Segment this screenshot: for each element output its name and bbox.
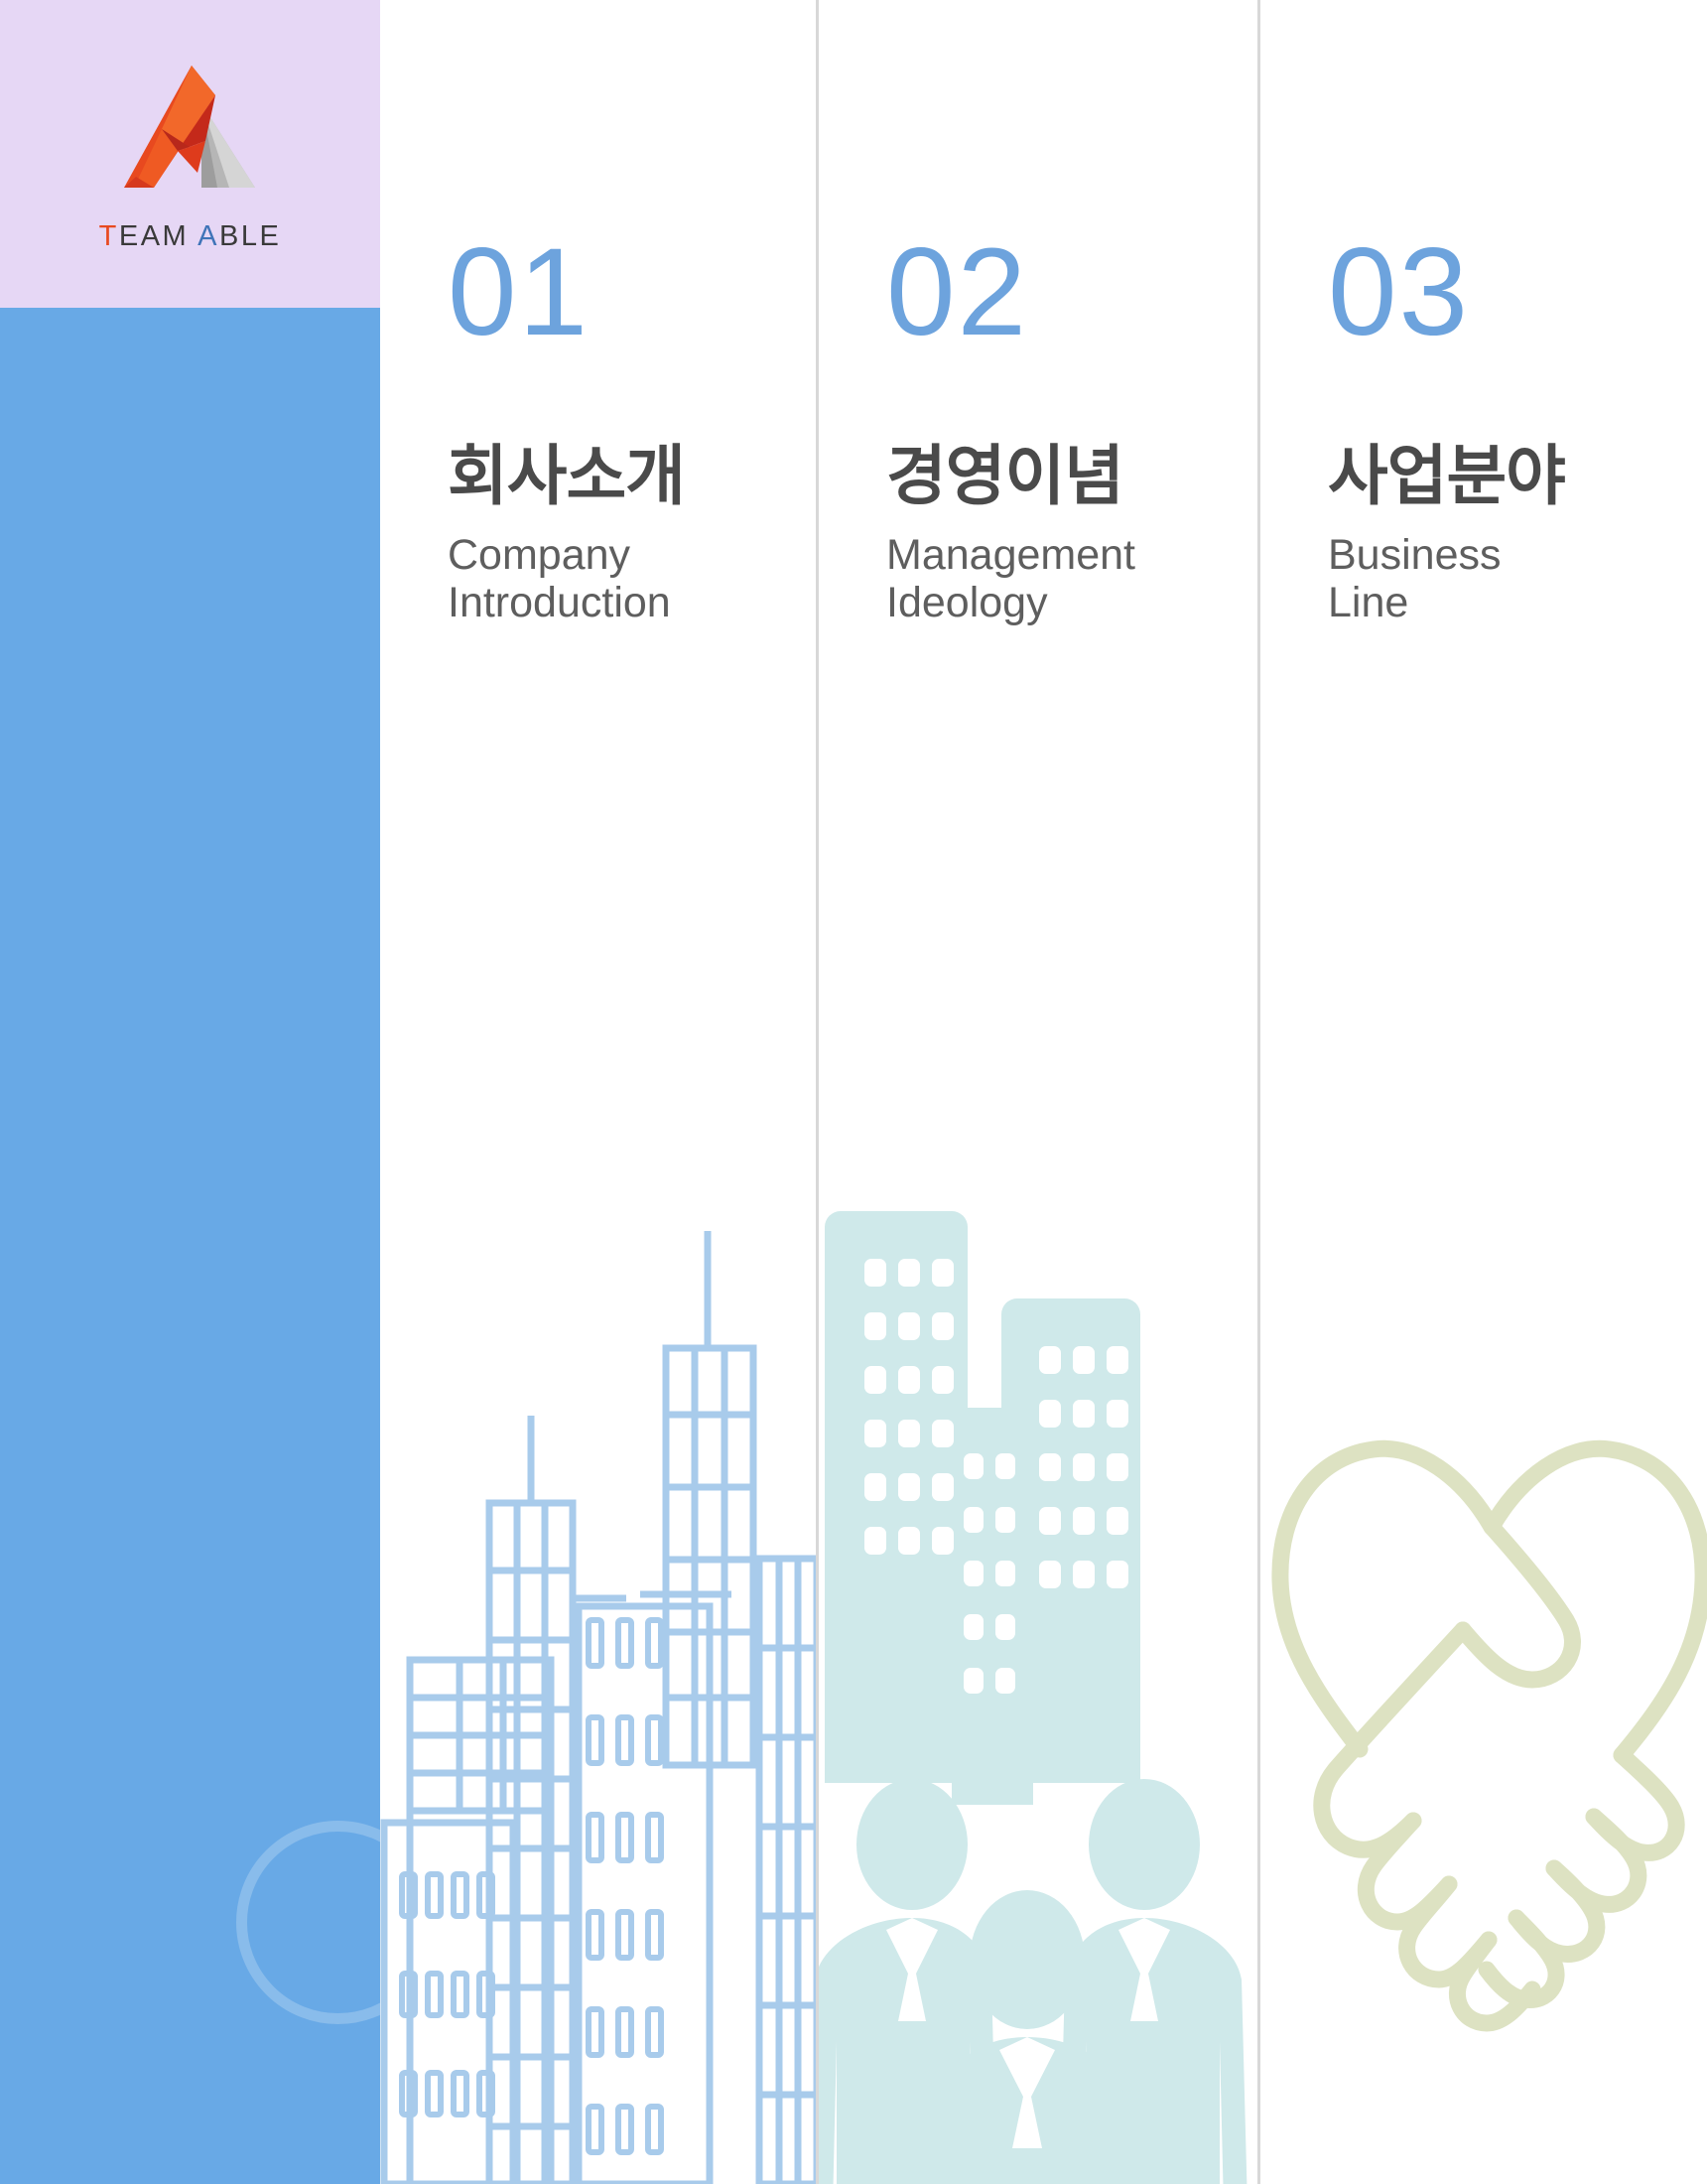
wordmark-eam: EAM (119, 220, 189, 252)
blue-rail-band (0, 308, 380, 2184)
agenda-title-english: Company Introduction (448, 531, 816, 626)
agenda-column-business-line[interactable]: 03 사업분야 Business Line (1260, 0, 1707, 2184)
business-team-and-buildings-icon (819, 1181, 1248, 2184)
agenda-column-management-ideology[interactable]: 02 경영이념 Management Ideology (819, 0, 1260, 2184)
brand-wordmark: TEAM ABLE (99, 220, 282, 253)
team-able-triangle-logo-icon (106, 56, 275, 214)
agenda-title-english-line1: Management (886, 531, 1257, 579)
agenda-column-content: 01 회사소개 Company Introduction (380, 0, 816, 626)
wordmark-ble: BLE (219, 220, 281, 252)
wordmark-a: A (197, 220, 219, 252)
agenda-column-content: 03 사업분야 Business Line (1260, 0, 1707, 626)
agenda-columns: 01 회사소개 Company Introduction (380, 0, 1707, 2184)
agenda-title-english-line2: Line (1328, 579, 1707, 626)
agenda-number: 01 (448, 230, 816, 354)
agenda-column-content: 02 경영이념 Management Ideology (819, 0, 1257, 626)
agenda-title-english: Business Line (1328, 531, 1707, 626)
left-rail: TEAM ABLE (0, 0, 380, 2184)
city-skyline-outline-icon (380, 1231, 819, 2184)
decorative-circle (236, 1821, 380, 2024)
brand-logo: TEAM ABLE (0, 0, 380, 308)
agenda-number: 02 (886, 230, 1257, 354)
agenda-title-english-line2: Ideology (886, 579, 1257, 626)
agenda-column-company-introduction[interactable]: 01 회사소개 Company Introduction (380, 0, 819, 2184)
agenda-slide: TEAM ABLE (0, 0, 1707, 2184)
wordmark-t: T (99, 220, 119, 252)
agenda-title-korean: 사업분야 (1328, 442, 1707, 511)
agenda-title-english-line2: Introduction (448, 579, 816, 626)
heart-handshake-icon (1268, 1400, 1707, 2095)
agenda-title-english-line1: Business (1328, 531, 1707, 579)
agenda-title-english-line1: Company (448, 531, 816, 579)
agenda-number: 03 (1328, 230, 1707, 354)
agenda-title-english: Management Ideology (886, 531, 1257, 626)
agenda-title-korean: 회사소개 (448, 442, 816, 511)
agenda-title-korean: 경영이념 (886, 442, 1257, 511)
